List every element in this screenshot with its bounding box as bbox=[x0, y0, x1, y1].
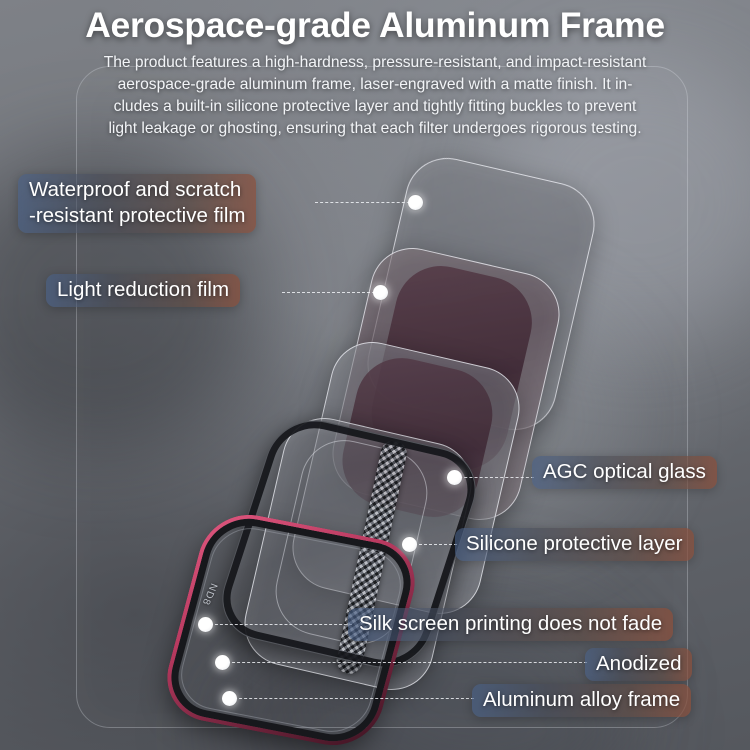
infographic-canvas: Aerospace-grade Aluminum Frame The produ… bbox=[0, 0, 750, 750]
callout-line-1: Waterproof and scratch bbox=[29, 177, 245, 203]
hotspot-dot-light-reduction bbox=[373, 285, 388, 300]
description-line: cludes a built-in silicone protective la… bbox=[19, 96, 731, 118]
leader-line-light-reduction bbox=[282, 292, 380, 293]
leader-line-silk-screen bbox=[205, 624, 352, 625]
callout-label-agc-glass[interactable]: AGC optical glass bbox=[532, 456, 717, 489]
callout-label-anodized[interactable]: Anodized bbox=[585, 648, 692, 681]
page-title: Aerospace-grade Aluminum Frame bbox=[0, 6, 750, 46]
callout-label-silicone-layer[interactable]: Silicone protective layer bbox=[455, 528, 694, 561]
hotspot-dot-agc-glass bbox=[447, 470, 462, 485]
callout-line-2: -resistant protective film bbox=[29, 203, 245, 229]
header: Aerospace-grade Aluminum Frame The produ… bbox=[0, 0, 750, 140]
leader-line-agc-glass bbox=[454, 477, 534, 478]
callout-label-waterproof-film[interactable]: Waterproof and scratch -resistant protec… bbox=[18, 174, 256, 233]
description-line: The product features a high-hardness, pr… bbox=[19, 52, 731, 74]
callout-label-aluminum-frame[interactable]: Aluminum alloy frame bbox=[472, 684, 691, 717]
description-line: aerospace-grade aluminum frame, laser-en… bbox=[19, 74, 731, 96]
leader-line-anodized bbox=[222, 662, 587, 663]
hotspot-dot-anodized bbox=[215, 655, 230, 670]
callout-label-light-reduction[interactable]: Light reduction film bbox=[46, 274, 240, 307]
hotspot-dot-aluminum-frame bbox=[222, 691, 237, 706]
callout-label-silk-screen[interactable]: Silk screen printing does not fade bbox=[348, 608, 673, 641]
hotspot-dot-silicone-layer bbox=[402, 537, 417, 552]
leader-line-aluminum-frame bbox=[229, 698, 474, 699]
description-line: light leakage or ghosting, ensuring that… bbox=[19, 118, 731, 140]
leader-line-waterproof-film bbox=[315, 202, 415, 203]
silk-screen-engraving: ND8 bbox=[199, 582, 219, 607]
hotspot-dot-waterproof-film bbox=[408, 195, 423, 210]
description-paragraph: The product features a high-hardness, pr… bbox=[19, 52, 731, 141]
hotspot-dot-silk-screen bbox=[198, 617, 213, 632]
